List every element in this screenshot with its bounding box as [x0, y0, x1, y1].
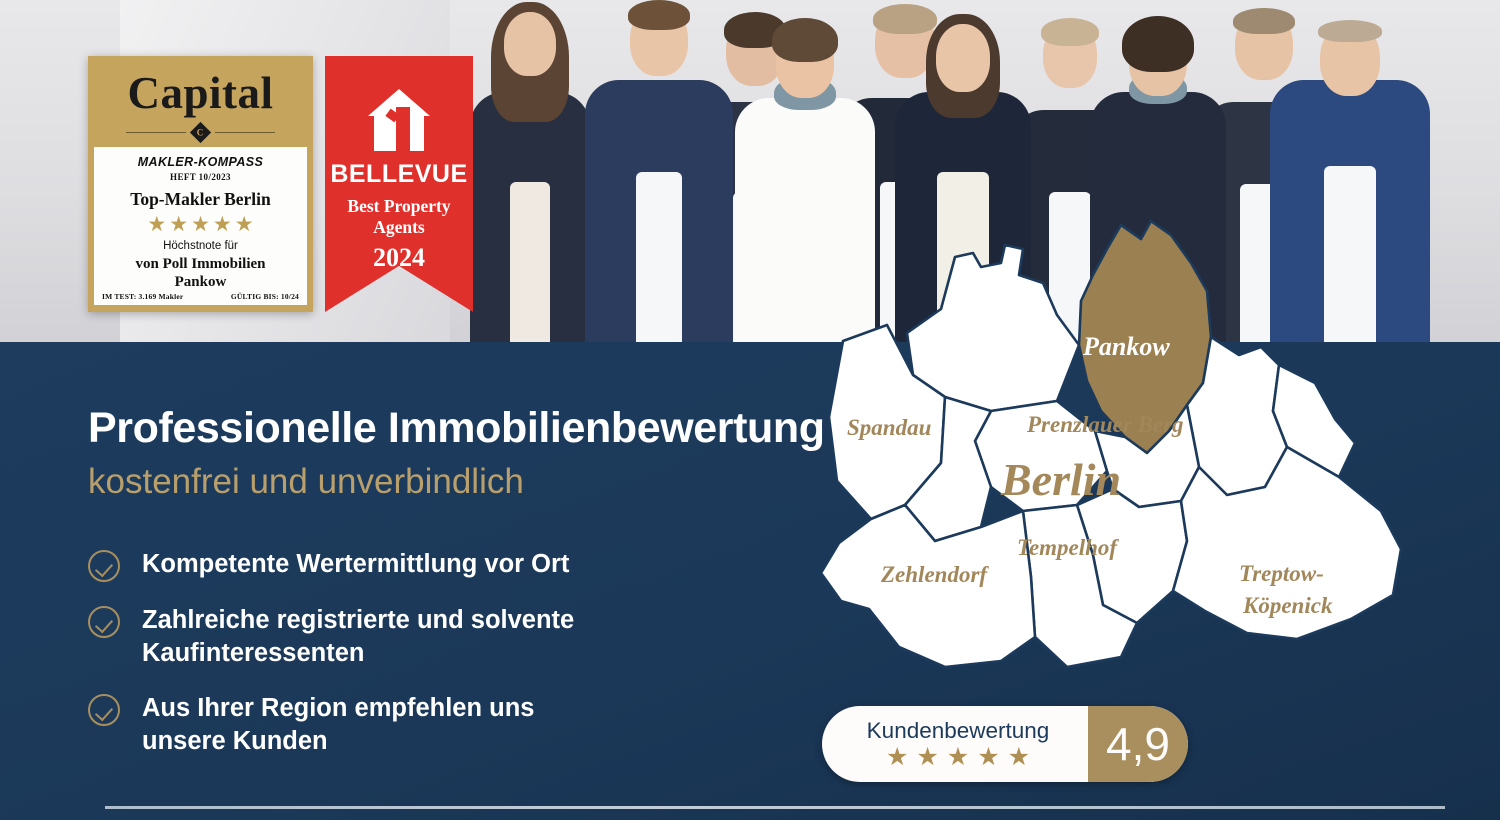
star-icon: ★	[213, 214, 232, 235]
benefit-text: Zahlreiche registrierte und solvente Kau…	[142, 604, 622, 670]
star-icon: ★	[977, 745, 999, 770]
team-member	[470, 0, 590, 342]
capital-monogram-letter: C	[197, 128, 204, 138]
district-label-spandau: Spandau	[847, 415, 932, 440]
capital-award-card: MAKLER-KOMPASS HEFT 10/2023 Top-Makler B…	[94, 147, 307, 305]
capital-star-rating: ★ ★ ★ ★ ★	[147, 214, 253, 235]
bellevue-tagline-line1: Best Property	[347, 196, 450, 217]
district-shape[interactable]	[907, 245, 1079, 411]
capital-company-name: von Poll Immobilien Pankow	[135, 255, 265, 291]
house-with-one-icon	[368, 89, 430, 151]
capital-company-line1: von Poll Immobilien	[135, 255, 265, 273]
district-label-prenzlauer-berg: Prenzlauer Berg	[1026, 412, 1184, 437]
benefits-list: Kompetente Wertermittlung vor Ort Zahlre…	[88, 548, 708, 780]
capital-award-badge: Capital C MAKLER-KOMPASS HEFT 10/2023 To…	[88, 56, 313, 312]
divider-line-left	[126, 132, 186, 133]
district-label-treptow: Treptow-	[1239, 561, 1324, 586]
district-label-koepenick: Köpenick	[1242, 593, 1333, 618]
bellevue-tagline: Best Property Agents	[347, 196, 450, 238]
bellevue-tagline-line2: Agents	[347, 217, 450, 238]
team-member	[585, 0, 733, 342]
capital-test-count: IM TEST: 3.169 Makler	[102, 292, 183, 301]
rating-info: Kundenbewertung ★ ★ ★ ★ ★	[822, 718, 1088, 770]
capital-wordmark: Capital	[94, 62, 307, 124]
page-subtitle: kostenfrei und unverbindlich	[88, 462, 524, 502]
check-circle-icon	[88, 550, 120, 582]
bellevue-wordmark: BELLEVUE	[330, 160, 467, 189]
star-icon: ★	[169, 214, 188, 235]
numeral-one-shape	[396, 107, 410, 151]
star-icon: ★	[147, 214, 166, 235]
map-city-label: Berlin	[1000, 454, 1121, 505]
capital-subtitle: Höchstnote für	[163, 240, 238, 252]
check-circle-icon	[88, 606, 120, 638]
capital-monogram-icon: C	[190, 122, 211, 143]
list-item: Kompetente Wertermittlung vor Ort	[88, 548, 708, 582]
capital-kompass-label: MAKLER-KOMPASS	[138, 155, 264, 169]
district-label-pankow: Pankow	[1082, 332, 1170, 361]
benefit-text: Kompetente Wertermittlung vor Ort	[142, 548, 569, 581]
capital-divider: C	[94, 125, 307, 140]
star-icon: ★	[191, 214, 210, 235]
capital-company-line2: Pankow	[135, 273, 265, 291]
page-title: Professionelle Immobilienbewertung	[88, 404, 825, 453]
rating-label: Kundenbewertung	[867, 718, 1050, 744]
star-icon: ★	[916, 745, 938, 770]
star-icon: ★	[235, 214, 254, 235]
benefit-text: Aus Ihrer Region empfehlen uns unsere Ku…	[142, 692, 587, 758]
star-icon: ★	[947, 745, 969, 770]
list-item: Zahlreiche registrierte und solvente Kau…	[88, 604, 708, 670]
list-item: Aus Ihrer Region empfehlen uns unsere Ku…	[88, 692, 708, 758]
check-circle-icon	[88, 694, 120, 726]
capital-fine-print: IM TEST: 3.169 Makler GÜLTIG BIS: 10/24	[101, 292, 300, 301]
divider-line-right	[215, 132, 275, 133]
rating-star-row: ★ ★ ★ ★ ★	[886, 745, 1030, 770]
customer-rating-badge[interactable]: Kundenbewertung ★ ★ ★ ★ ★ 4,9	[822, 706, 1188, 782]
capital-issue-label: HEFT 10/2023	[170, 172, 231, 182]
section-divider	[105, 806, 1445, 809]
berlin-district-map: Pankow Spandau Prenzlauer Berg Berlin Te…	[795, 205, 1435, 685]
star-icon: ★	[1008, 745, 1030, 770]
district-label-tempelhof: Tempelhof	[1017, 535, 1119, 560]
capital-award-title: Top-Makler Berlin	[130, 189, 271, 210]
capital-valid-until: GÜLTIG BIS: 10/24	[231, 292, 299, 301]
rating-score-value: 4,9	[1088, 706, 1188, 782]
district-label-zehlendorf: Zehlendorf	[880, 562, 989, 587]
star-icon: ★	[886, 745, 908, 770]
